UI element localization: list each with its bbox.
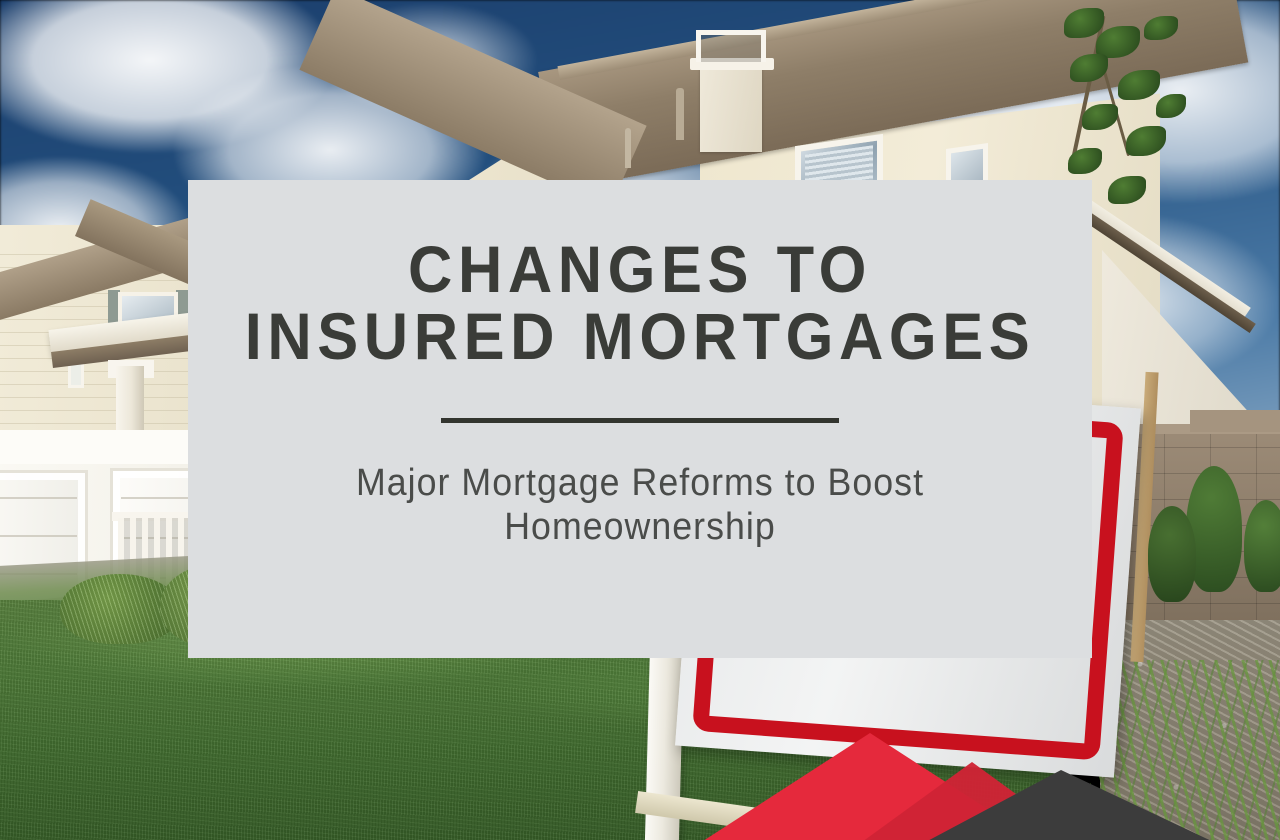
chimney [700, 64, 762, 152]
headline-card: CHANGES TO INSURED MORTGAGES Major Mortg… [188, 180, 1092, 658]
roof-vent-pipe [625, 128, 631, 168]
title-divider [441, 418, 839, 423]
page-subtitle: Major Mortgage Reforms to Boost Homeowne… [255, 461, 1026, 549]
title-line-1: CHANGES TO [220, 236, 1061, 303]
roof-vent-pipe [676, 88, 684, 140]
page-title: CHANGES TO INSURED MORTGAGES [220, 236, 1061, 369]
shrub [1148, 506, 1196, 602]
shrub [1244, 500, 1280, 592]
block-wall-step [1190, 410, 1280, 432]
chimney-top [696, 30, 766, 62]
banner-canvas: CHANGES TO INSURED MORTGAGES Major Mortg… [0, 0, 1280, 840]
title-line-2: INSURED MORTGAGES [220, 303, 1061, 370]
